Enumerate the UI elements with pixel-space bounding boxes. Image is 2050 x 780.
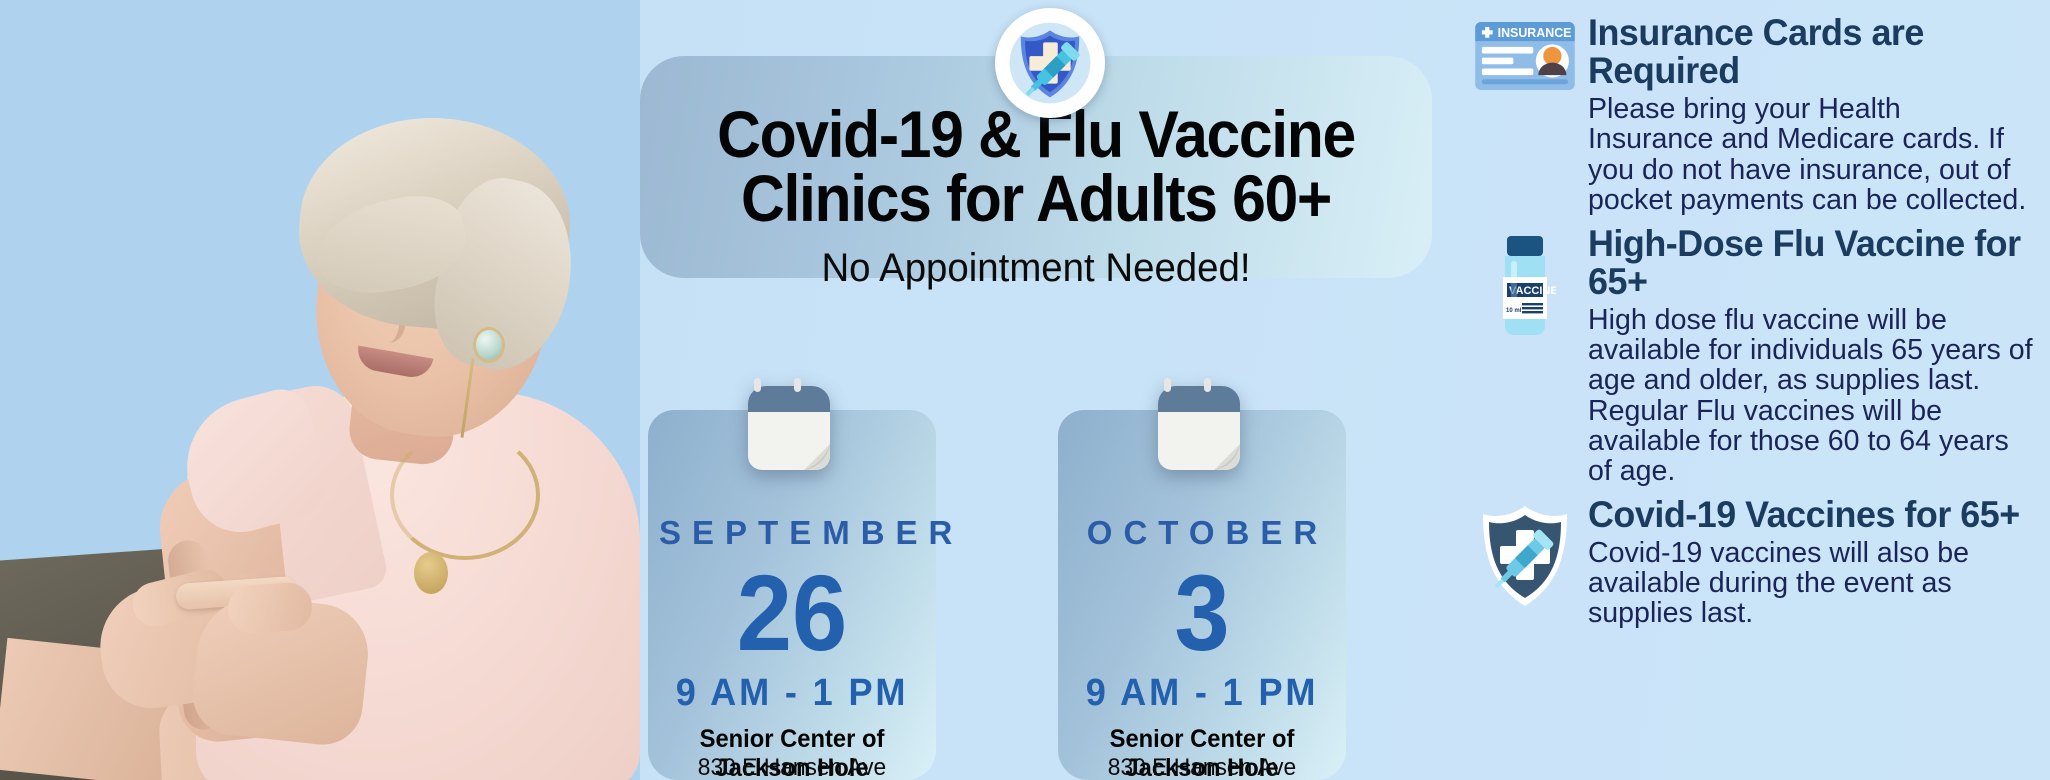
calendar-icon	[742, 374, 842, 476]
title-line-2: Clinics for Adults 60+	[741, 161, 1331, 235]
necklace-pendant	[414, 552, 448, 594]
earring	[476, 330, 502, 360]
card-day: 26	[660, 556, 925, 669]
info-text-insurance: Insurance Cards are Required Please brin…	[1580, 14, 2040, 215]
necklace-chain	[390, 430, 540, 560]
info-block-covid-vaccines: Covid-19 Vaccines for 65+ Covid-19 vacci…	[1470, 496, 2040, 629]
date-card-september[interactable]: SEPTEMBER 26 9 AM - 1 PM Senior Center o…	[648, 410, 936, 780]
shield-syringe-badge-icon	[995, 8, 1105, 118]
calendar-icon	[1152, 374, 1252, 476]
info-block-high-dose-flu: VACCINE 10 ml High-Dose Flu Vaccine for …	[1470, 225, 2040, 486]
info-body: Please bring your Health Insurance and M…	[1588, 94, 2033, 215]
card-address: 830 E Hansen Ave	[1065, 754, 1339, 780]
patient-photo	[0, 0, 640, 780]
shield-syringe-icon	[1470, 496, 1580, 608]
insurance-card-label: INSURANCE	[1498, 26, 1572, 40]
info-title: High-Dose Flu Vaccine for 65+	[1588, 225, 2026, 301]
insurance-card-icon: INSURANCE	[1470, 14, 1580, 90]
clinician-fingers-right	[226, 581, 313, 635]
info-body: Covid-19 vaccines will also be available…	[1588, 538, 2033, 628]
info-text-high-dose-flu: High-Dose Flu Vaccine for 65+ High dose …	[1580, 225, 2040, 486]
card-time: 9 AM - 1 PM	[1065, 672, 1339, 715]
info-title: Covid-19 Vaccines for 65+	[1588, 496, 2026, 534]
card-month: SEPTEMBER	[648, 514, 936, 552]
card-address: 830 E Hansen Ave	[655, 754, 929, 780]
page-subtitle: No Appointment Needed!	[656, 246, 1416, 291]
info-title: Insurance Cards are Required	[1588, 14, 2026, 90]
info-body: High dose flu vaccine will be available …	[1588, 305, 2033, 486]
card-day: 3	[1070, 556, 1335, 669]
card-month: OCTOBER	[1058, 514, 1346, 552]
info-block-insurance: INSURANCE Insurance Cards are Required P…	[1470, 14, 2040, 215]
info-panel: INSURANCE Insurance Cards are Required P…	[1470, 14, 2040, 629]
card-time: 9 AM - 1 PM	[655, 672, 929, 715]
vial-volume-label: 10 ml	[1506, 308, 1522, 314]
date-card-october[interactable]: OCTOBER 3 9 AM - 1 PM Senior Center of J…	[1058, 410, 1346, 780]
vaccine-clinic-flyer: Covid-19 & Flu Vaccine Clinics for Adult…	[0, 0, 2050, 780]
vaccine-vial-icon: VACCINE 10 ml	[1470, 225, 1580, 345]
info-text-covid-vaccines: Covid-19 Vaccines for 65+ Covid-19 vacci…	[1580, 496, 2040, 629]
